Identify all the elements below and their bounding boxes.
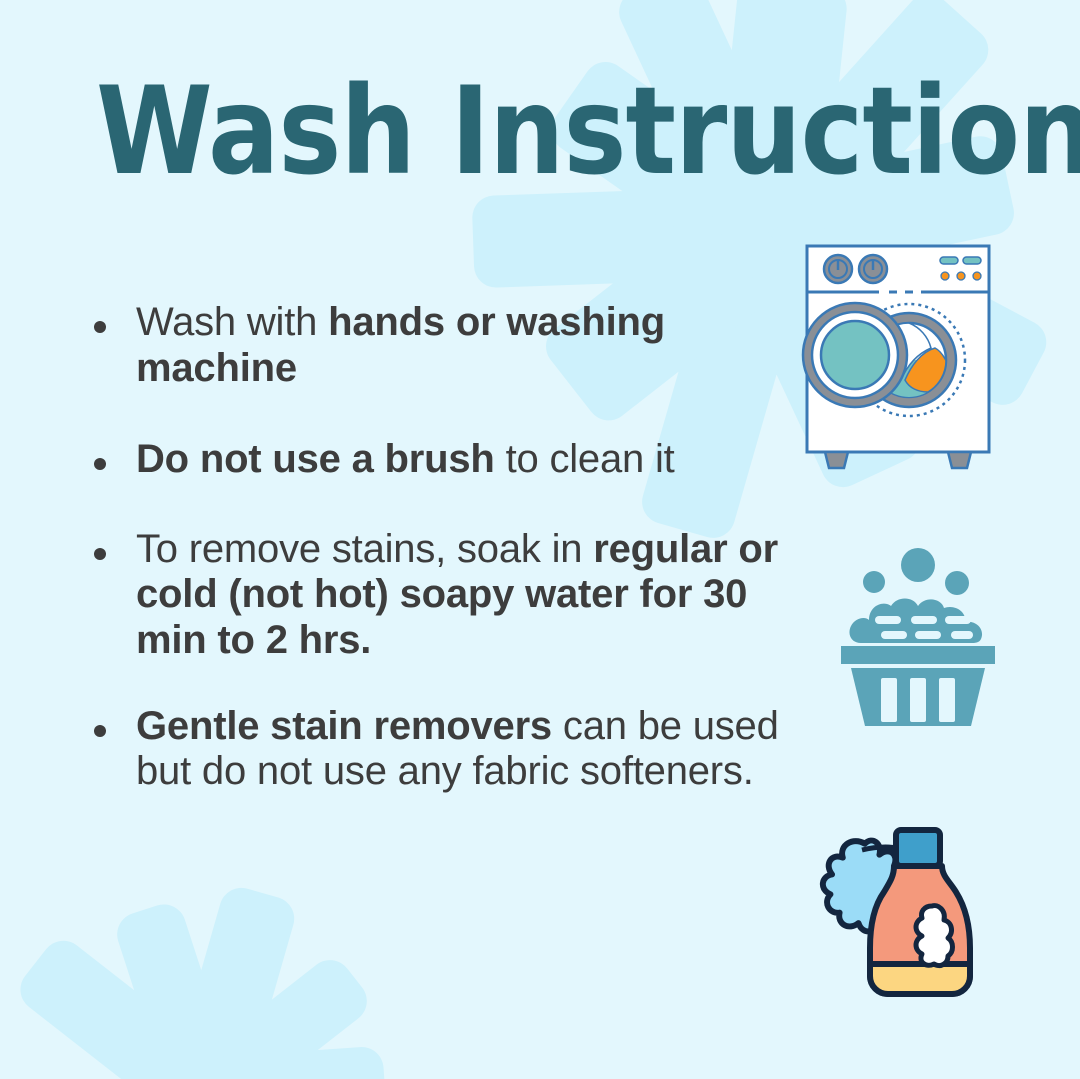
instruction-no-brush: Do not use a brush to clean it [136, 437, 794, 483]
bullet-dot-icon [94, 725, 106, 737]
instruction-stain-removers: Gentle stain removers can be used but do… [136, 704, 794, 795]
instructions-list: Wash with hands or washing machine Do no… [94, 300, 794, 795]
page-title: Wash Instructions [96, 72, 1080, 193]
instruction-wash-method: Wash with hands or washing machine [136, 300, 794, 391]
list-item: To remove stains, soak in regular or col… [94, 527, 794, 664]
list-item: Gentle stain removers can be used but do… [94, 704, 794, 795]
list-item: Do not use a brush to clean it [94, 437, 794, 483]
list-item: Wash with hands or washing machine [94, 300, 794, 391]
bullet-dot-icon [94, 548, 106, 560]
washing-machine-icon [793, 240, 1003, 470]
bullet-dot-icon [94, 458, 106, 470]
laundry-basket-icon [833, 546, 1003, 728]
instruction-soak-stains: To remove stains, soak in regular or col… [136, 527, 794, 664]
detergent-bottle-icon [800, 818, 1000, 1018]
wash-instructions-poster: Wash Instructions Wash with hands or was… [0, 0, 1080, 1079]
bullet-dot-icon [94, 321, 106, 333]
